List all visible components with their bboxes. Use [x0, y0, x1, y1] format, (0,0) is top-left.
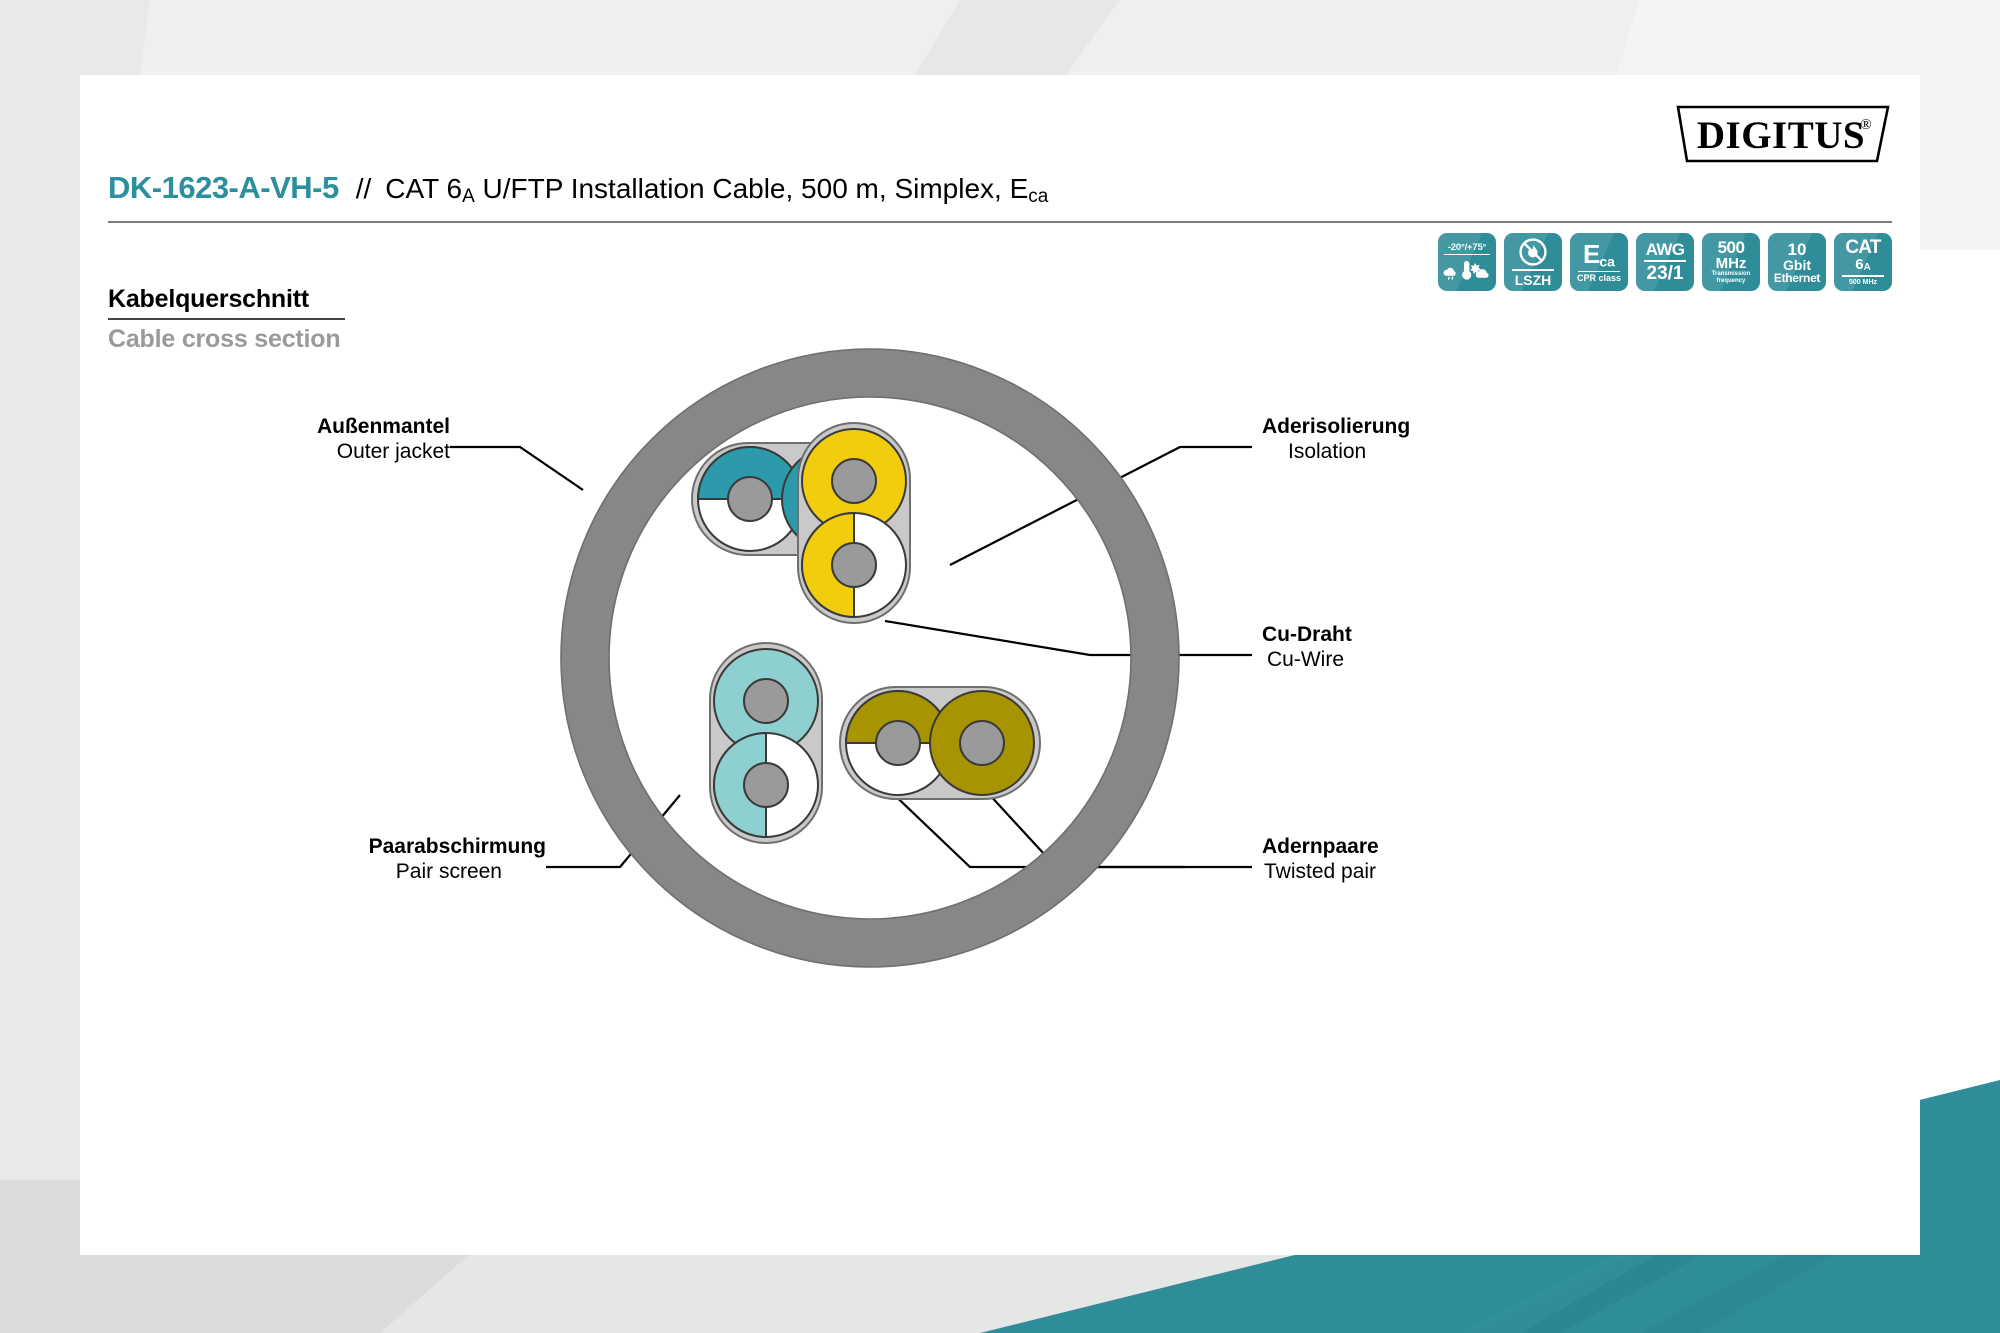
callout-twisted-pair-en: Twisted pair	[1262, 860, 1542, 885]
badge-lszh-rule	[1512, 269, 1554, 271]
pair-yellow	[798, 423, 910, 623]
product-description: CAT 6A U/FTP Installation Cable, 500 m, …	[385, 173, 1048, 208]
badge-ethernet-value: 10	[1788, 241, 1807, 258]
pair-olive-core-right	[960, 721, 1004, 765]
cable-cross-section-diagram	[80, 275, 1920, 1175]
badge-category-value: 6A	[1855, 257, 1871, 273]
content-card: DIGITUS ® DK-1623-A-VH-5 // CAT 6A U/FTP…	[80, 75, 1920, 1255]
callout-isolation-en: Isolation	[1262, 440, 1542, 465]
product-sku: DK-1623-A-VH-5	[108, 170, 339, 206]
badge-cpr-subscript: ca	[1599, 254, 1615, 270]
callout-outer-jacket-de: Außenmantel	[200, 415, 450, 440]
pair-olive-wire-right	[930, 691, 1034, 795]
desc-sub-ca: ca	[1028, 186, 1048, 207]
callout-twisted-pair-de: Adernpaare	[1262, 835, 1542, 860]
pair-light-teal-core-top	[744, 679, 788, 723]
badge-category-subscript: A	[1864, 262, 1871, 273]
logo-wordmark: DIGITUS	[1697, 114, 1865, 157]
badge-temperature-rule	[1444, 254, 1490, 255]
pair-yellow-core-bottom	[832, 543, 876, 587]
pair-olive	[840, 687, 1040, 799]
pair-olive-core-left	[876, 721, 920, 765]
title-divider	[108, 221, 1892, 223]
callout-outer-jacket-en: Outer jacket	[200, 440, 450, 465]
callout-pair-screen-de: Paarabschirmung	[200, 835, 546, 860]
badge-awg-rule	[1644, 260, 1686, 262]
callout-pair-screen-en: Pair screen	[200, 860, 546, 885]
badge-category-title: CAT	[1845, 238, 1880, 257]
badge-awg-title: AWG	[1646, 241, 1685, 258]
pair-light-teal-wire-bottom	[714, 733, 818, 837]
callout-cu-wire-de: Cu-Draht	[1262, 623, 1522, 648]
badge-ethernet-unit: Gbit	[1783, 258, 1811, 272]
pair-light-teal	[710, 643, 822, 843]
desc-part-2: U/FTP Installation Cable, 500 m, Simplex…	[475, 173, 1029, 204]
pair-light-teal-core-bottom	[744, 763, 788, 807]
badge-cpr-rule	[1578, 271, 1620, 273]
badge-frequency-value: 500	[1718, 239, 1745, 256]
leader-outer-jacket	[450, 447, 583, 490]
callout-pair-screen: Paarabschirmung Pair screen	[200, 835, 546, 885]
logo-registered-icon: ®	[1860, 117, 1871, 133]
title-row: DK-1623-A-VH-5 // CAT 6A U/FTP Installat…	[108, 170, 1892, 216]
desc-sub-a: A	[462, 186, 475, 207]
callout-isolation-de: Aderisolierung	[1262, 415, 1542, 440]
leader-cu-wire	[885, 621, 1252, 655]
callout-isolation: Aderisolierung Isolation	[1262, 415, 1542, 465]
callout-twisted-pair: Adernpaare Twisted pair	[1262, 835, 1542, 885]
desc-part-1: CAT 6	[385, 173, 462, 204]
callout-outer-jacket: Außenmantel Outer jacket	[200, 415, 450, 465]
badge-category-number: 6	[1855, 256, 1863, 273]
title-separator: //	[356, 173, 372, 205]
pair-teal-core-left	[728, 477, 772, 521]
callout-cu-wire-en: Cu-Wire	[1262, 648, 1522, 673]
digitus-logo: DIGITUS ®	[1674, 103, 1892, 165]
callout-cu-wire: Cu-Draht Cu-Wire	[1262, 623, 1522, 673]
pair-yellow-wire-bottom	[802, 513, 906, 617]
pair-yellow-core-top	[832, 459, 876, 503]
badge-cpr-letter: E	[1583, 239, 1599, 269]
badge-cpr-main: Eca	[1583, 241, 1615, 269]
badge-frequency-unit: MHz	[1716, 256, 1747, 271]
badge-temperature-label: -20°/+75°	[1448, 243, 1486, 253]
no-flame-icon	[1518, 237, 1548, 267]
